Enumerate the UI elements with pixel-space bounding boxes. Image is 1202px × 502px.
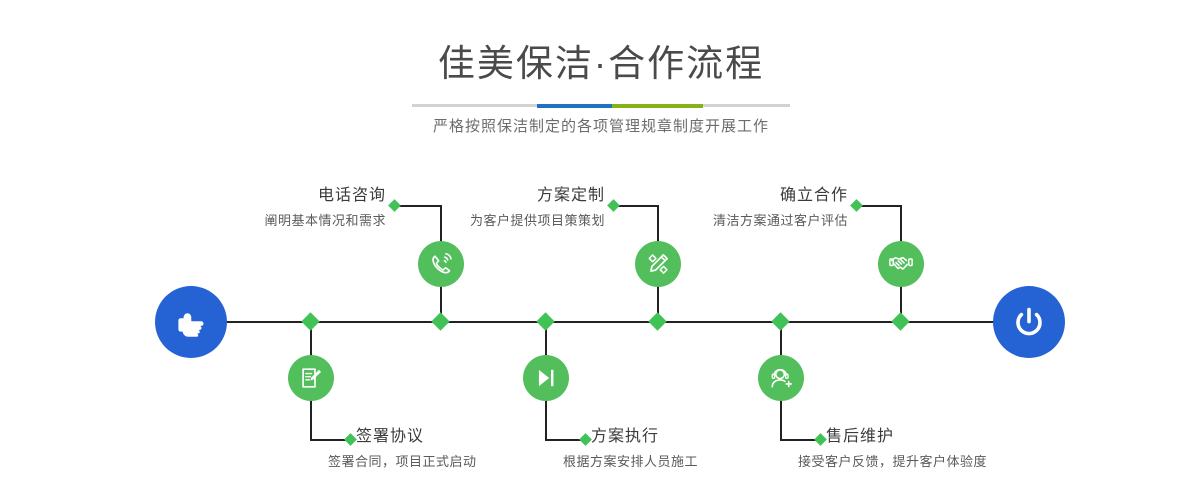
label-tip-5 bbox=[850, 199, 863, 212]
step-icon-6[interactable] bbox=[758, 355, 804, 401]
step-label-2: 签署协议 签署合同，项目正式启动 bbox=[356, 429, 477, 468]
step-icon-4[interactable] bbox=[523, 355, 569, 401]
timeline-marker-2 bbox=[301, 312, 319, 330]
step-icon-5[interactable] bbox=[878, 241, 924, 287]
step-desc-5: 清洁方案通过客户评估 bbox=[610, 214, 848, 227]
step-label-3: 方案定制 为客户提供项目策策划 bbox=[370, 188, 605, 227]
timeline-marker-4 bbox=[536, 312, 554, 330]
step-desc-6: 接受客户反馈，提升客户体验度 bbox=[798, 455, 987, 468]
step-title-2: 签署协议 bbox=[356, 429, 477, 445]
step-title-4: 方案执行 bbox=[591, 429, 698, 445]
pencil-ruler-icon bbox=[645, 251, 671, 277]
step-label-5: 确立合作 清洁方案通过客户评估 bbox=[610, 188, 848, 227]
phone-call-icon bbox=[428, 251, 455, 278]
step-title-3: 方案定制 bbox=[370, 188, 605, 204]
step-title-6: 售后维护 bbox=[826, 429, 987, 445]
step-desc-4: 根据方案安排人员施工 bbox=[563, 455, 698, 468]
step-desc-2: 签署合同，项目正式启动 bbox=[328, 455, 477, 468]
document-sign-icon bbox=[298, 365, 324, 391]
step-title-1: 电话咨询 bbox=[150, 188, 386, 204]
step-icon-2[interactable] bbox=[288, 355, 334, 401]
timeline-marker-6 bbox=[771, 312, 789, 330]
customer-service-add-icon bbox=[768, 365, 794, 391]
step-label-4: 方案执行 根据方案安排人员施工 bbox=[591, 429, 698, 468]
pointing-hand-icon bbox=[171, 302, 211, 342]
timeline-marker-5 bbox=[891, 312, 909, 330]
timeline-marker-1 bbox=[431, 312, 449, 330]
flow-diagram-page: 佳美保洁·合作流程 严格按照保洁制定的各项管理规章制度开展工作 bbox=[0, 0, 1202, 502]
power-button-icon bbox=[1009, 302, 1049, 342]
label-tip-6 bbox=[814, 433, 827, 446]
step-label-6: 售后维护 接受客户反馈，提升客户体验度 bbox=[826, 429, 987, 468]
step-desc-1: 阐明基本情况和需求 bbox=[150, 214, 386, 227]
play-forward-icon bbox=[533, 365, 559, 391]
process-timeline: 电话咨询 阐明基本情况和需求 签署协议 签署合同，项目正式启动 bbox=[0, 0, 1202, 502]
label-tip-2 bbox=[344, 433, 357, 446]
label-tip-4 bbox=[579, 433, 592, 446]
timeline-start-node[interactable] bbox=[155, 286, 227, 358]
step-icon-1[interactable] bbox=[418, 241, 464, 287]
handshake-icon bbox=[888, 251, 914, 277]
timeline-marker-3 bbox=[648, 312, 666, 330]
step-icon-3[interactable] bbox=[635, 241, 681, 287]
timeline-end-node[interactable] bbox=[993, 286, 1065, 358]
step-title-5: 确立合作 bbox=[610, 188, 848, 204]
step-desc-3: 为客户提供项目策策划 bbox=[370, 214, 605, 227]
step-label-1: 电话咨询 阐明基本情况和需求 bbox=[150, 188, 386, 227]
